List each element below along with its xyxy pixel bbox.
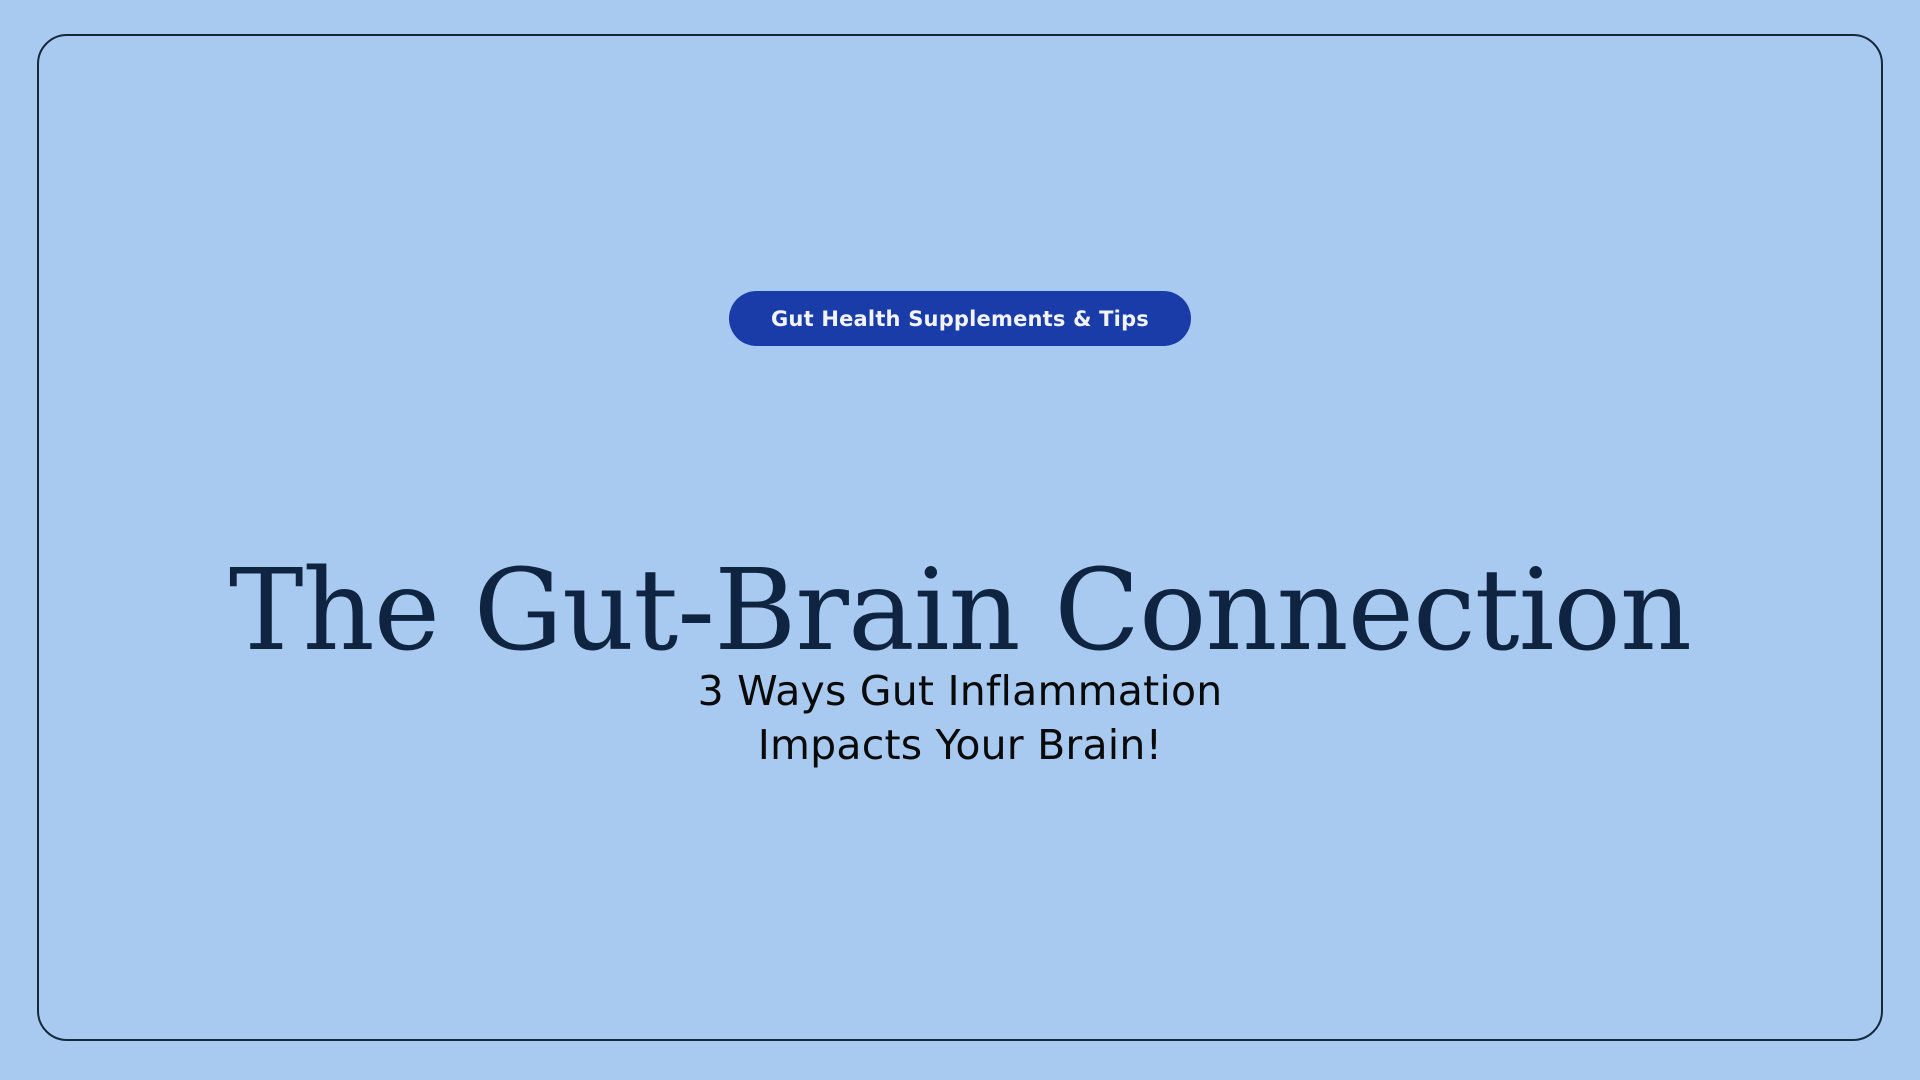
- subtitle: 3 Ways Gut Inflammation Impacts Your Bra…: [0, 664, 1920, 772]
- category-badge[interactable]: Gut Health Supplements & Tips: [729, 291, 1191, 346]
- slide-canvas: Gut Health Supplements & Tips The Gut-Br…: [0, 0, 1920, 1080]
- page-title: The Gut-Brain Connection: [0, 551, 1920, 672]
- subtitle-line-1: 3 Ways Gut Inflammation: [0, 664, 1920, 718]
- slide-content: Gut Health Supplements & Tips The Gut-Br…: [0, 0, 1920, 1080]
- category-badge-label: Gut Health Supplements & Tips: [771, 307, 1149, 331]
- subtitle-line-2: Impacts Your Brain!: [0, 718, 1920, 772]
